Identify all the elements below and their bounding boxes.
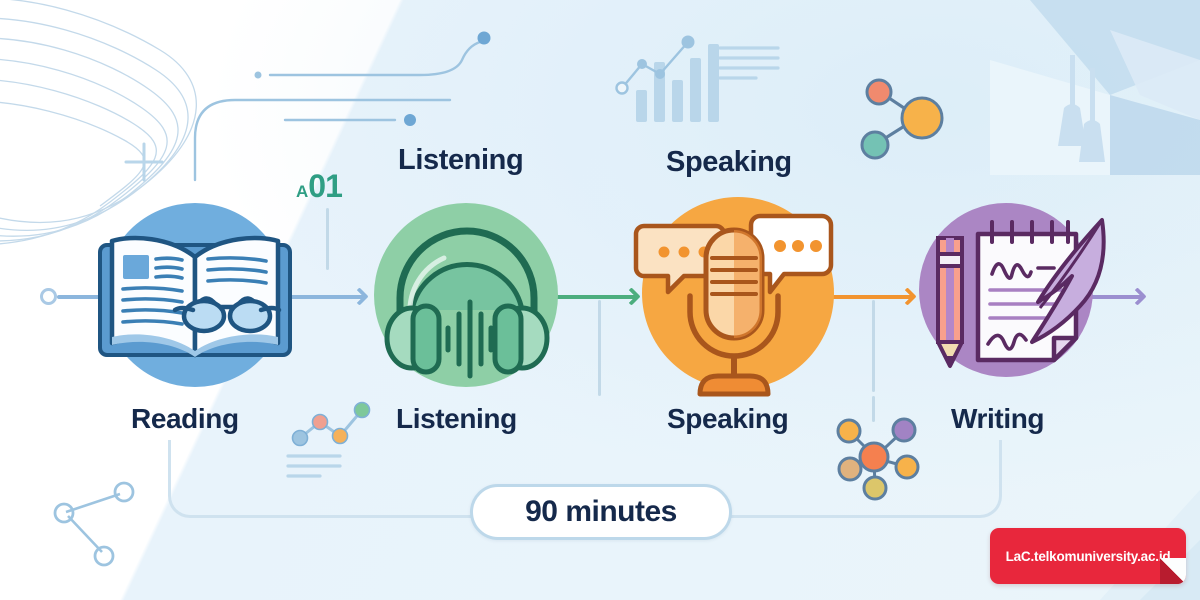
speaking-label-top: Speaking (666, 146, 792, 179)
microphone-with-speech-bubbles-icon (634, 208, 840, 380)
notepad-pencil-quill-icon (916, 212, 1108, 372)
tick-mark-3 (872, 300, 875, 392)
text-lines-decor (718, 44, 780, 84)
plus-decor (122, 140, 166, 184)
tick-mark-2 (598, 300, 601, 396)
dot-connector-decor (44, 480, 154, 570)
writing-label: Writing (951, 403, 1044, 435)
speaking-label-bottom: Speaking (667, 403, 788, 435)
infographic-canvas: A01 (0, 0, 1200, 600)
open-book-with-glasses-icon (92, 215, 298, 380)
site-badge[interactable]: LaC.telkomuniversity.ac.id (990, 528, 1186, 584)
listening-label-bottom: Listening (396, 403, 517, 435)
molecule-decor-top (848, 68, 952, 160)
listening-label-top: Listening (398, 144, 523, 177)
marker-number: 01 (308, 168, 342, 204)
site-badge-text: LaC.telkomuniversity.ac.id (1006, 549, 1171, 564)
flow-start-dot (40, 288, 57, 305)
duration-label: 90 minutes (525, 495, 677, 529)
headphones-with-waveform-icon (386, 218, 548, 374)
arrow-speaking-to-writing (828, 285, 924, 309)
bar-chart-trendline-decor (612, 32, 722, 122)
reading-label: Reading (131, 403, 239, 435)
tick-mark-1 (326, 208, 329, 270)
duration-pill: 90 minutes (470, 484, 732, 540)
marker-prefix: A (296, 182, 308, 201)
graduation-cap-decor (990, 0, 1200, 175)
badge-fold-corner (1160, 558, 1186, 584)
step-marker-a01: A01 (296, 168, 342, 205)
tick-mark-4 (872, 396, 875, 422)
